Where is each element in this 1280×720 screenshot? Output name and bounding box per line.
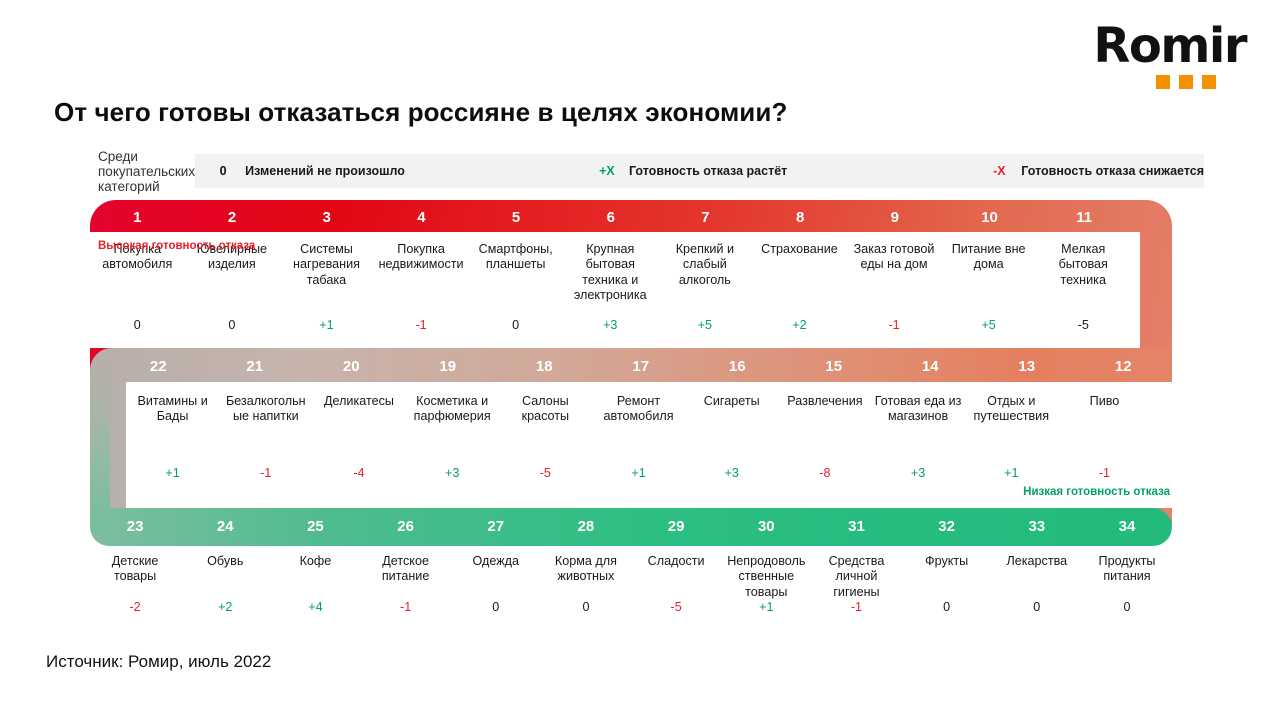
category-delta: +1 — [759, 601, 773, 626]
logo-dot-2 — [1179, 75, 1193, 89]
category-delta: +1 — [631, 467, 645, 508]
category-label: Лекарства — [1003, 554, 1070, 569]
category-delta: +1 — [319, 319, 333, 348]
category-cell: Косметика и парфюмерия+3 — [406, 382, 499, 508]
rank-number: 11 — [1037, 210, 1132, 225]
category-delta: +5 — [698, 319, 712, 348]
category-label: Питание вне дома — [941, 242, 1036, 273]
category-cell: Лекарства0 — [992, 546, 1082, 626]
category-delta: +2 — [218, 601, 232, 626]
category-cell: Обувь+2 — [180, 546, 270, 626]
category-delta: -8 — [819, 467, 830, 508]
category-label: Крепкий и слабый алкоголь — [658, 242, 753, 288]
category-label: Заказ готовой еды на дом — [847, 242, 942, 273]
category-label: Мелкая бытовая техника — [1036, 242, 1131, 288]
category-label: Детские товары — [90, 554, 180, 585]
category-label: Салоны красоты — [499, 394, 592, 425]
source-note: Источник: Ромир, июль 2022 — [46, 652, 271, 672]
category-delta: -5 — [540, 467, 551, 508]
category-delta: 0 — [943, 601, 950, 626]
legend-item-negative: -X Готовность отказа снижается — [977, 164, 1204, 178]
category-delta: -5 — [671, 601, 682, 626]
category-cell: Покупка недвижимости-1 — [374, 232, 469, 348]
rank-number: 32 — [902, 519, 992, 534]
category-label: Сладости — [645, 554, 708, 569]
category-label: Крупная бытовая техника и электроника — [563, 242, 658, 303]
rank-number: 12 — [1075, 359, 1172, 374]
category-delta: +3 — [725, 467, 739, 508]
legend-text-negative: Готовность отказа снижается — [1021, 164, 1204, 178]
category-label: Обувь — [204, 554, 246, 569]
category-delta: 0 — [1033, 601, 1040, 626]
rank-number: 3 — [279, 210, 374, 225]
legend-item-positive: +X Готовность отказа растёт — [585, 164, 787, 178]
rank-row-middle: 2221201918171615141312 — [110, 359, 1172, 374]
romir-logo: Romir — [1093, 22, 1246, 89]
page-title: От чего готовы отказаться россияне в цел… — [54, 97, 787, 128]
category-label: Развлечения — [784, 394, 865, 409]
category-label: Кофе — [297, 554, 335, 569]
logo-dot-3 — [1202, 75, 1216, 89]
category-card-low: Детские товары-2Обувь+2Кофе+4Детское пит… — [90, 546, 1172, 626]
category-delta: -2 — [129, 601, 140, 626]
category-label: Фрукты — [922, 554, 971, 569]
category-label: Отдых и путешествия — [965, 394, 1058, 425]
category-label: Готовая еда из магазинов — [872, 394, 965, 425]
rank-number: 26 — [361, 519, 451, 534]
logo-dot-1 — [1156, 75, 1170, 89]
rank-number: 31 — [811, 519, 901, 534]
rank-row-low: 232425262728293031323334 — [90, 519, 1172, 534]
rank-number: 19 — [400, 359, 497, 374]
category-delta: -1 — [400, 601, 411, 626]
category-cell: Средства личной гигиены-1 — [811, 546, 901, 626]
rank-number: 4 — [374, 210, 469, 225]
slide-root: Romir От чего готовы отказаться россияне… — [0, 0, 1280, 720]
category-cell: Заказ готовой еды на дом-1 — [847, 232, 942, 348]
legend-key-negative: -X — [977, 164, 1021, 178]
category-cell: Детское питание-1 — [361, 546, 451, 626]
category-cell: Одежда0 — [451, 546, 541, 626]
rank-number: 9 — [848, 210, 943, 225]
category-label: Системы нагревания табака — [279, 242, 374, 288]
category-cell: Непродовольственные товары+1 — [721, 546, 811, 626]
rank-number: 21 — [207, 359, 304, 374]
category-delta: +4 — [308, 601, 322, 626]
legend-text-positive: Готовность отказа растёт — [629, 164, 787, 178]
category-cell: Безалкогольные напитки-1 — [219, 382, 312, 508]
category-card-middle: Витамины и Бады+1Безалкогольные напитки-… — [126, 382, 1172, 508]
legend-item-zero: 0 Изменений не произошло — [201, 164, 405, 178]
category-cell: Витамины и Бады+1 — [126, 382, 219, 508]
category-delta: +3 — [603, 319, 617, 348]
rank-number: 27 — [451, 519, 541, 534]
category-delta: -1 — [888, 319, 899, 348]
rank-number: 18 — [496, 359, 593, 374]
category-label: Детское питание — [361, 554, 451, 585]
category-label: Ремонт автомобиля — [592, 394, 685, 425]
category-cell: Питание вне дома+5 — [941, 232, 1036, 348]
category-label: Витамины и Бады — [126, 394, 219, 425]
category-label: Страхование — [758, 242, 841, 257]
category-delta: +3 — [445, 467, 459, 508]
category-delta: 0 — [134, 319, 141, 348]
rank-number: 6 — [563, 210, 658, 225]
category-cell: Кофе+4 — [270, 546, 360, 626]
category-cell: Салоны красоты-5 — [499, 382, 592, 508]
category-delta: 0 — [492, 601, 499, 626]
category-label: Смартфоны, планшеты — [468, 242, 563, 273]
logo-dots-icon — [1093, 75, 1216, 89]
rank-number: 13 — [979, 359, 1076, 374]
rank-number: 23 — [90, 519, 180, 534]
caption-high-readiness: Высокая готовность отказа — [98, 240, 255, 252]
rank-number: 17 — [593, 359, 690, 374]
category-delta: -1 — [260, 467, 271, 508]
rank-row-high: 1234567891011 — [90, 210, 1172, 225]
category-cell: Системы нагревания табака+1 — [279, 232, 374, 348]
rank-number: 2 — [185, 210, 280, 225]
category-label: Косметика и парфюмерия — [406, 394, 499, 425]
category-label: Продукты питания — [1082, 554, 1172, 585]
category-cell: Страхование+2 — [752, 232, 847, 348]
rank-number: 7 — [658, 210, 753, 225]
category-label: Покупка недвижимости — [374, 242, 469, 273]
category-cell: Продукты питания0 — [1082, 546, 1172, 626]
category-cell: Ремонт автомобиля+1 — [592, 382, 685, 508]
category-label: Безалкогольные напитки — [219, 394, 312, 425]
category-delta: 0 — [1123, 601, 1130, 626]
caption-low-readiness: Низкая готовность отказа — [1023, 486, 1170, 498]
category-cell: Корма для животных0 — [541, 546, 631, 626]
category-cell: Крепкий и слабый алкоголь+5 — [658, 232, 753, 348]
category-label: Одежда — [470, 554, 523, 569]
category-delta: -5 — [1078, 319, 1089, 348]
category-cell: Развлечения-8 — [778, 382, 871, 508]
rank-number: 25 — [270, 519, 360, 534]
category-label: Средства личной гигиены — [811, 554, 901, 600]
rank-number: 15 — [786, 359, 883, 374]
logo-wordmark: Romir — [1093, 22, 1246, 70]
category-delta: +1 — [165, 467, 179, 508]
category-delta: +3 — [911, 467, 925, 508]
rank-number: 16 — [689, 359, 786, 374]
rank-number: 34 — [1082, 519, 1172, 534]
category-label: Сигареты — [701, 394, 763, 409]
category-delta: 0 — [582, 601, 589, 626]
category-cell: Сладости-5 — [631, 546, 721, 626]
rank-number: 28 — [541, 519, 631, 534]
rank-number: 10 — [942, 210, 1037, 225]
category-delta: 0 — [228, 319, 235, 348]
category-cell: Мелкая бытовая техника-5 — [1036, 232, 1131, 348]
category-delta: -4 — [353, 467, 364, 508]
category-delta: -1 — [415, 319, 426, 348]
rank-number: 1 — [90, 210, 185, 225]
category-label: Пиво — [1087, 394, 1123, 409]
category-delta: 0 — [512, 319, 519, 348]
rank-number: 8 — [753, 210, 848, 225]
category-label: Корма для животных — [541, 554, 631, 585]
category-delta: +2 — [792, 319, 806, 348]
legend-lead-label: Среди покупательских категорий — [90, 154, 195, 188]
legend-key-positive: +X — [585, 164, 629, 178]
rank-number: 20 — [303, 359, 400, 374]
legend-key-zero: 0 — [201, 164, 245, 178]
category-cell: Фрукты0 — [902, 546, 992, 626]
category-cell: Крупная бытовая техника и электроника+3 — [563, 232, 658, 348]
rank-number: 24 — [180, 519, 270, 534]
category-label: Непродовольственные товары — [721, 554, 811, 600]
rank-number: 33 — [992, 519, 1082, 534]
category-delta: +1 — [1004, 467, 1018, 508]
rank-number: 5 — [469, 210, 564, 225]
category-cell: Деликатесы-4 — [312, 382, 405, 508]
legend-bar: Среди покупательских категорий 0 Изменен… — [90, 154, 1172, 188]
category-delta: -1 — [851, 601, 862, 626]
category-cell: Детские товары-2 — [90, 546, 180, 626]
category-cell: Готовая еда из магазинов+3 — [872, 382, 965, 508]
category-delta: +5 — [981, 319, 995, 348]
category-cell: Сигареты+3 — [685, 382, 778, 508]
rank-number: 14 — [882, 359, 979, 374]
rank-number: 29 — [631, 519, 721, 534]
rank-number: 22 — [110, 359, 207, 374]
category-cell: Смартфоны, планшеты0 — [468, 232, 563, 348]
legend-items: 0 Изменений не произошло +X Готовность о… — [195, 154, 1204, 188]
rank-number: 30 — [721, 519, 811, 534]
legend-text-zero: Изменений не произошло — [245, 164, 405, 178]
category-label: Деликатесы — [321, 394, 397, 409]
